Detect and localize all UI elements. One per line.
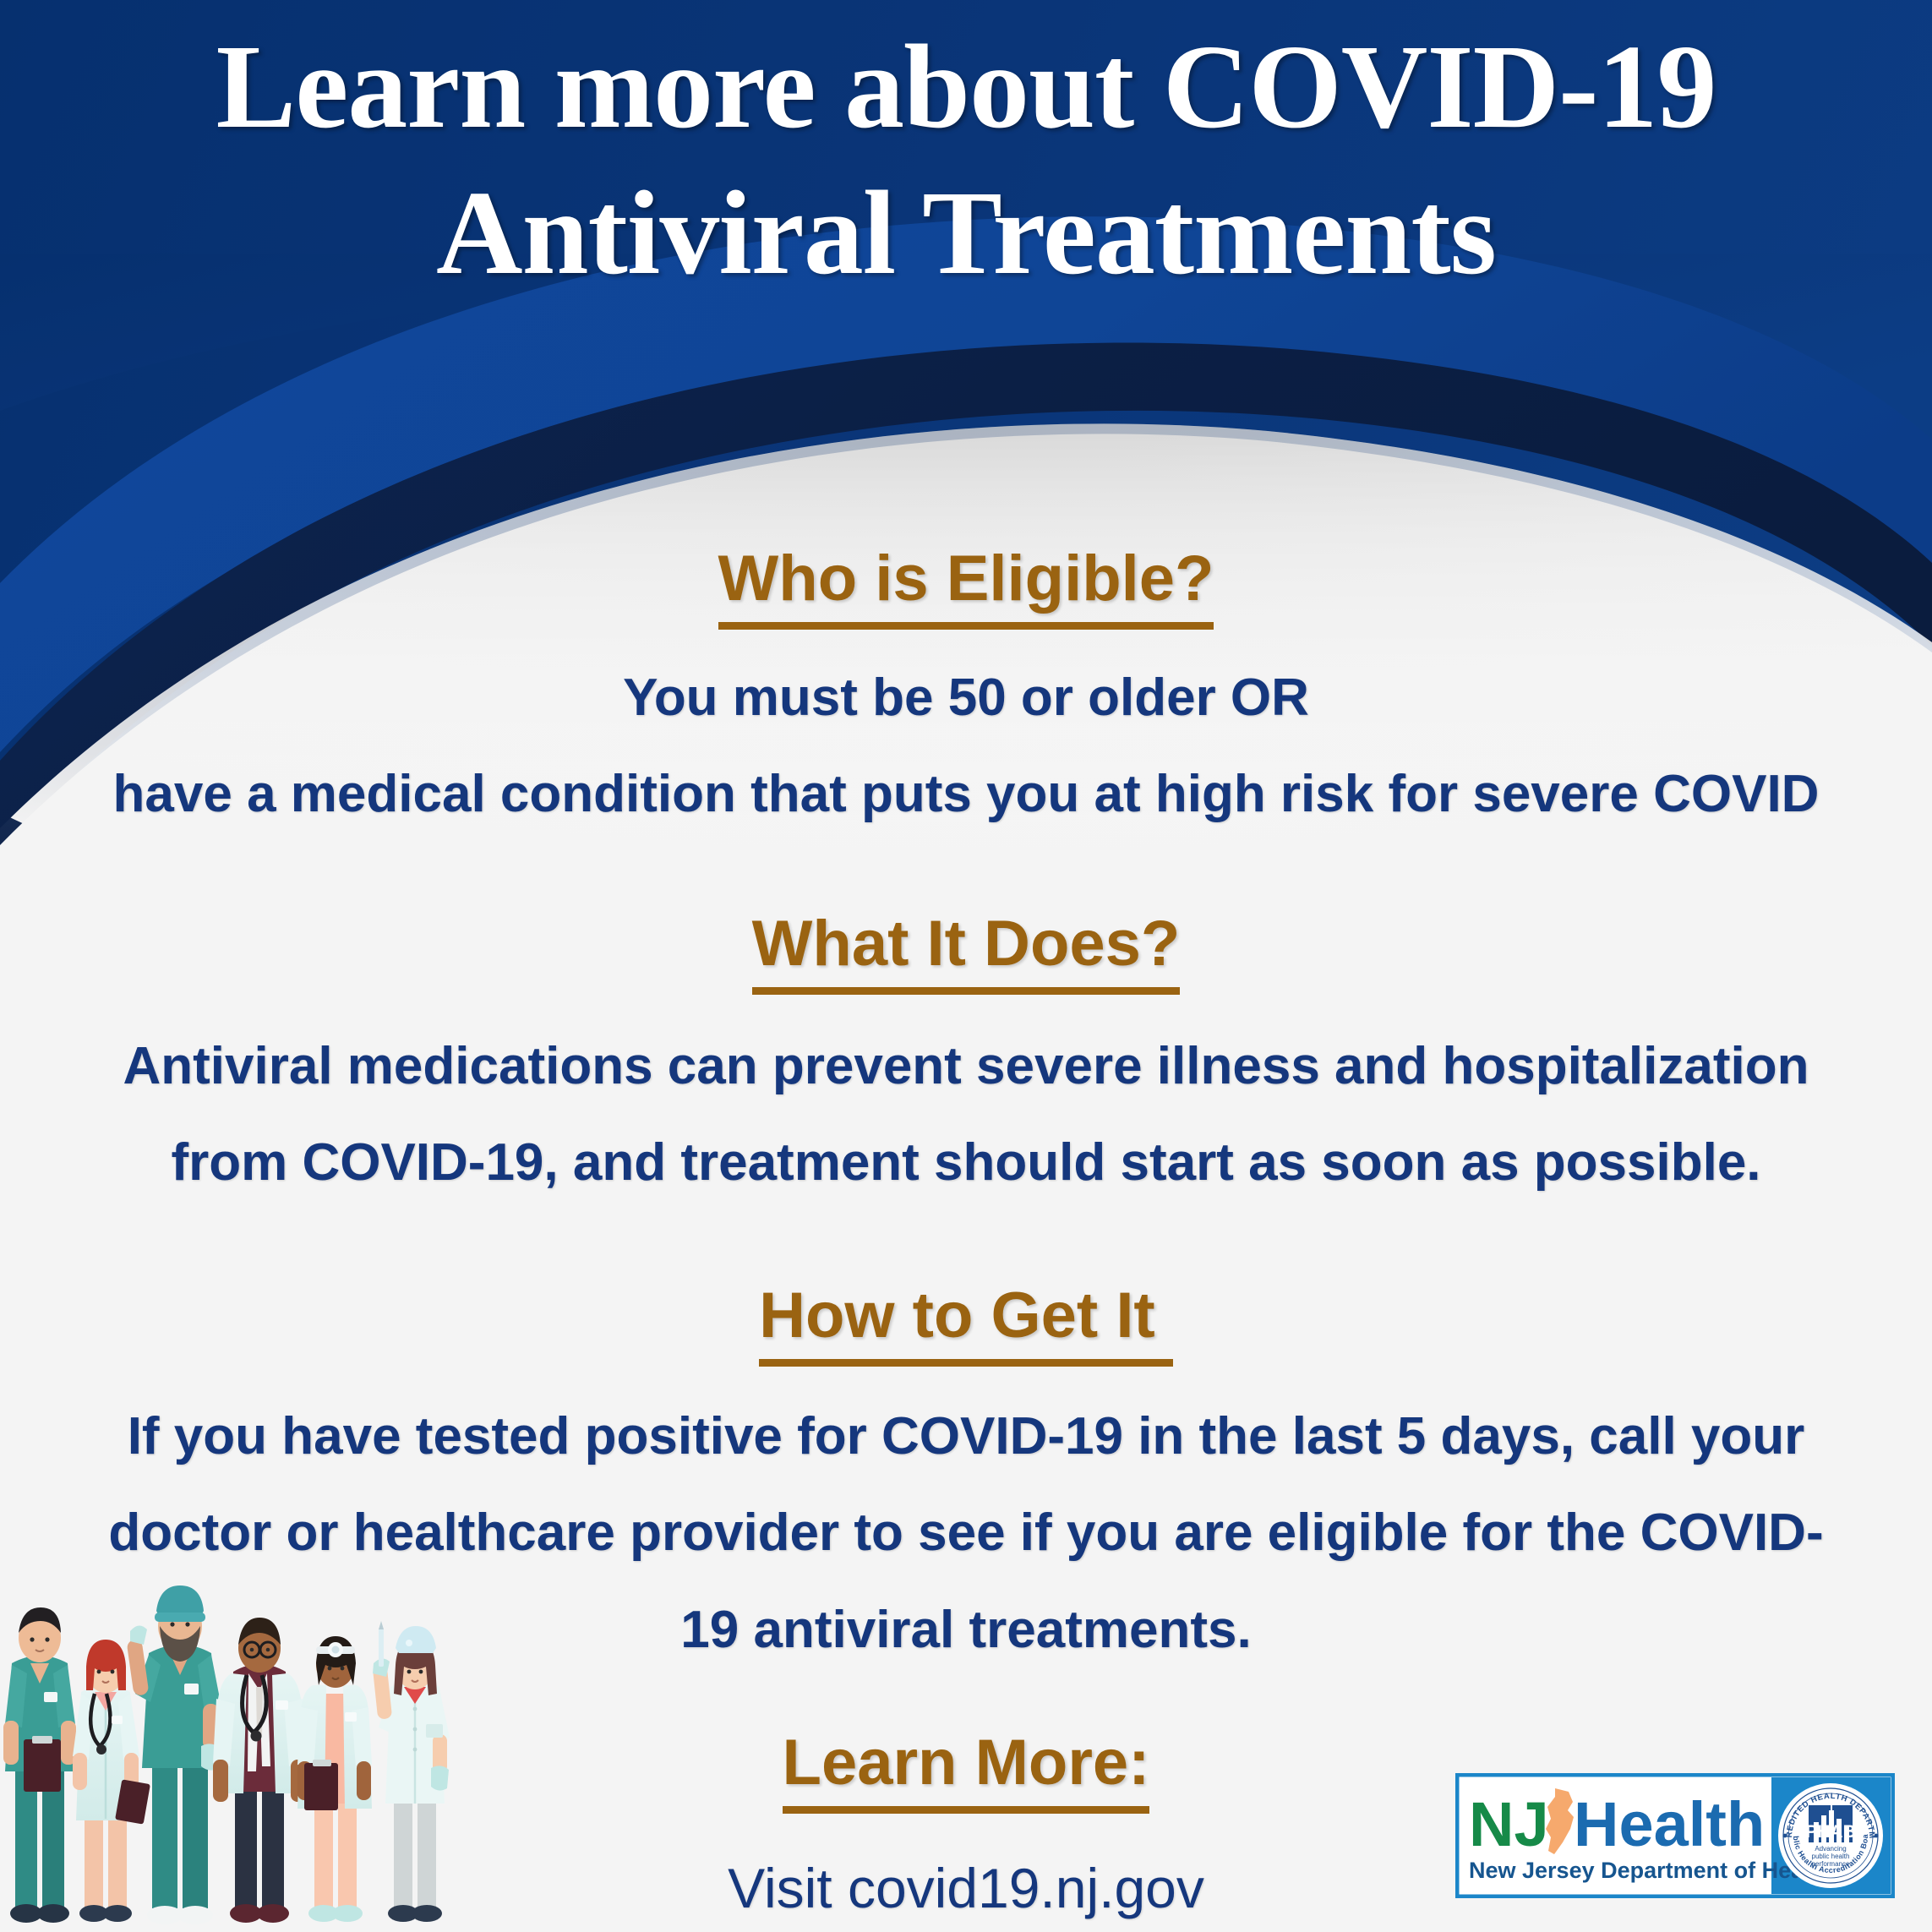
seal-tagline-line-2: public health	[1812, 1853, 1850, 1860]
section-heading-what-it-does: What It Does?	[752, 906, 1181, 995]
logo-nj-text: NJ	[1469, 1789, 1549, 1859]
logo-health-text: Health	[1574, 1789, 1765, 1859]
page-title-line-2: Antiviral Treatments	[0, 160, 1932, 306]
body-line: You must be 50 or older OR	[44, 650, 1888, 747]
section-who-is-eligible: Who is Eligible? You must be 50 or older…	[0, 541, 1932, 843]
section-what-it-does: What It Does? Antiviral medications can …	[0, 906, 1932, 1212]
section-body-what-it-does: Antiviral medications can prevent severe…	[0, 1018, 1932, 1212]
seal-tagline-line-3: performance	[1812, 1860, 1850, 1868]
section-heading-learn-more: Learn More:	[783, 1725, 1150, 1814]
nj-health-logo: NJ Health New Jersey Department of Healt…	[1455, 1773, 1895, 1898]
worker-male-doctor-glasses	[213, 1618, 306, 1923]
section-heading-how-to-get-it: How to Get It	[759, 1278, 1173, 1367]
body-line: have a medical condition that puts you a…	[44, 746, 1888, 843]
worker-male-surgeon	[126, 1585, 221, 1924]
section-heading-eligible: Who is Eligible?	[718, 541, 1214, 630]
page-title: Learn more about COVID-19 Antiviral Trea…	[0, 14, 1932, 306]
seal-acronym: PHAB	[1805, 1822, 1856, 1842]
body-line: If you have tested positive for COVID-19…	[44, 1389, 1888, 1486]
logo-department-text: New Jersey Department of Health	[1469, 1858, 1831, 1883]
section-body-eligible: You must be 50 or older OR have a medica…	[0, 650, 1932, 843]
healthcare-team-illustration	[3, 1513, 477, 1932]
body-line: from COVID-19, and treatment should star…	[44, 1115, 1888, 1212]
poster-canvas: Learn more about COVID-19 Antiviral Trea…	[0, 0, 1932, 1932]
worker-female-nurse-syringe	[373, 1621, 450, 1922]
worker-male-nurse	[3, 1607, 76, 1923]
page-title-line-1: Learn more about COVID-19	[0, 14, 1932, 160]
worker-female-doctor-headlamp	[297, 1636, 372, 1922]
seal-tagline-line-1: Advancing	[1815, 1845, 1846, 1853]
body-line: Antiviral medications can prevent severe…	[44, 1018, 1888, 1116]
